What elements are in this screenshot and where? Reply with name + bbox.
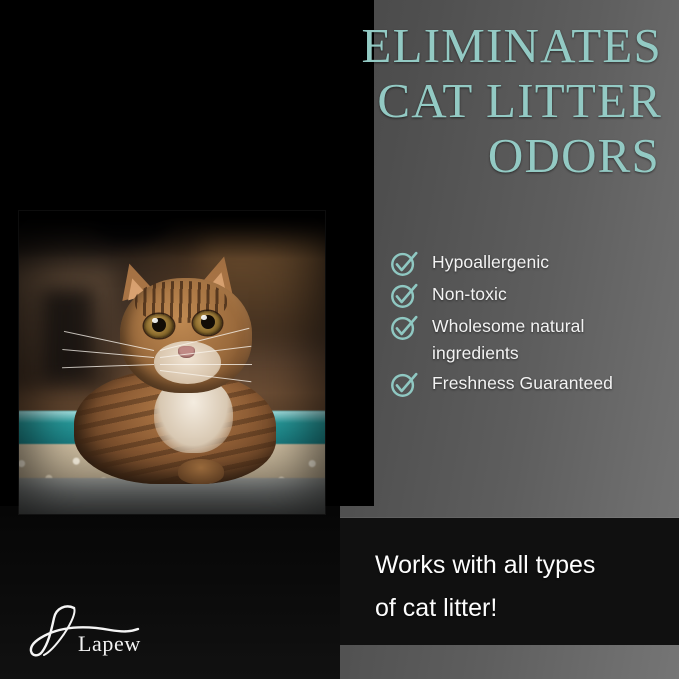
kitten-litter-box-photo bbox=[19, 211, 325, 514]
photo-canvas bbox=[19, 211, 325, 514]
feature-item: Non-toxic bbox=[389, 281, 674, 310]
headline-line-1: ELIMINATES bbox=[230, 18, 662, 73]
callout-text: Works with all types of cat litter! bbox=[375, 544, 665, 630]
callout-line-1: Works with all types bbox=[375, 544, 665, 587]
feature-label: Hypoallergenic bbox=[432, 249, 549, 276]
kitten-whisker bbox=[160, 370, 251, 382]
kitten-whisker bbox=[62, 349, 154, 358]
feature-item: Freshness Guaranteed bbox=[389, 370, 674, 399]
kitten-whiskers bbox=[19, 211, 325, 514]
headline-line-3: ODORS bbox=[230, 128, 662, 183]
feature-label: Non-toxic bbox=[432, 281, 507, 308]
feature-item: Hypoallergenic bbox=[389, 249, 674, 278]
callout-box: Works with all types of cat litter! bbox=[340, 518, 679, 645]
feature-label: Wholesome natural ingredients bbox=[432, 313, 674, 367]
kitten-figure bbox=[19, 211, 325, 514]
brand-logo: Lapew bbox=[26, 598, 176, 662]
headline: ELIMINATES CAT LITTER ODORS bbox=[230, 18, 662, 183]
kitten-whisker bbox=[62, 364, 154, 368]
product-ad-image: ELIMINATES CAT LITTER ODORS bbox=[0, 0, 679, 679]
kitten-whisker bbox=[64, 331, 154, 351]
check-circle-icon bbox=[389, 312, 419, 342]
callout-line-2: of cat litter! bbox=[375, 587, 665, 630]
feature-item: Wholesome natural ingredients bbox=[389, 313, 674, 367]
check-circle-icon bbox=[389, 280, 419, 310]
feature-list: Hypoallergenic Non-toxic Wholesome natur… bbox=[389, 249, 674, 402]
headline-line-2: CAT LITTER bbox=[230, 73, 662, 128]
check-circle-icon bbox=[389, 369, 419, 399]
feature-label: Freshness Guaranteed bbox=[432, 370, 613, 397]
kitten-whisker bbox=[160, 364, 252, 365]
check-circle-icon bbox=[389, 248, 419, 278]
brand-wordmark: Lapew bbox=[78, 631, 141, 657]
